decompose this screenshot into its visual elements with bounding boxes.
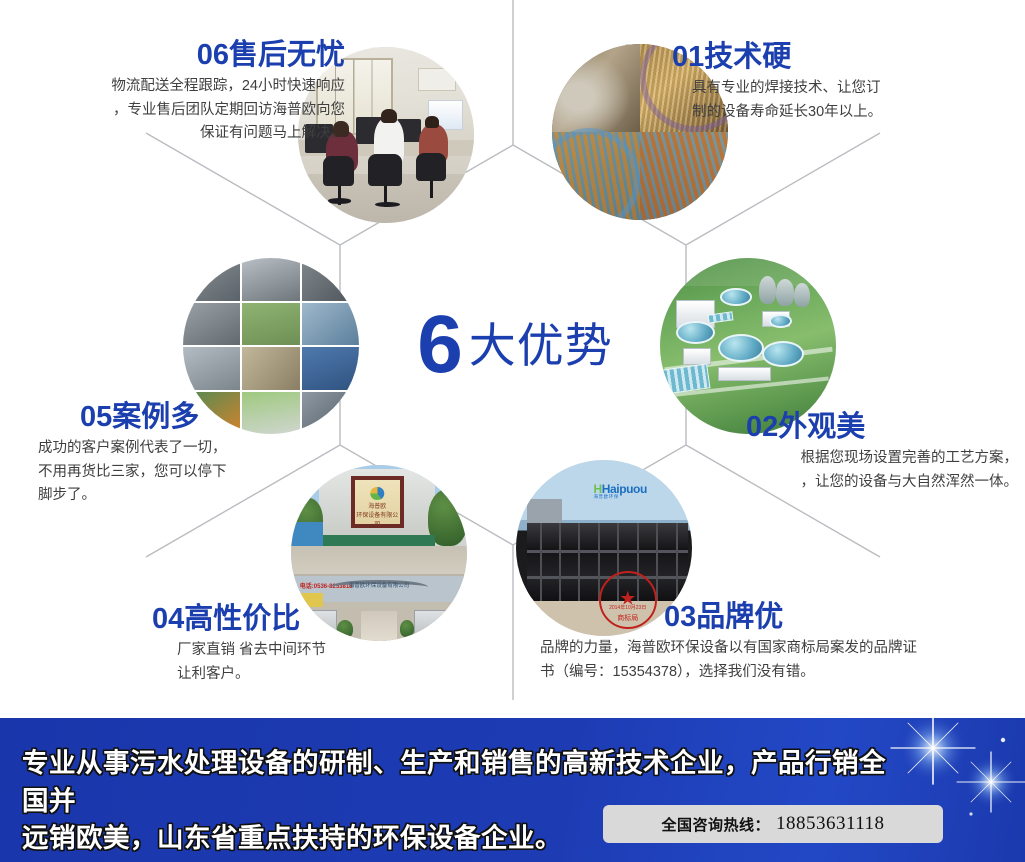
gate-sign-text: 海普欧环保设备有限公司 [355, 503, 400, 530]
feature-06-body: 物流配送全程跟踪，24小时快速响应 ，专业售后团队定期回访海普欧向您 保证有问题… [10, 75, 345, 145]
feature-02-body: 根据您现场设置完善的工艺方案， ，让您的设备与大自然浑然一体。 [718, 447, 1018, 494]
feature-04-heading: 04高性价比 [152, 604, 482, 634]
feature-06-heading: 06售后无忧 [10, 40, 345, 70]
feature-04-body: 厂家直销 省去中间环节 让利客户。 [152, 639, 482, 686]
hotline-label: 全国咨询热线： [661, 814, 770, 835]
feature-01-body: 具有专业的焊接技术、让您订 制的设备寿命延长30年以上。 [672, 77, 1002, 124]
center-label-text: 大优势 [469, 322, 613, 369]
haipuou-watermark: HHaipuou 海普欧环保 [593, 483, 646, 500]
feature-02-heading: 02外观美 [718, 412, 1018, 442]
feature-03-heading: 03品牌优 [540, 602, 1000, 632]
feature-06: 06售后无忧 物流配送全程跟踪，24小时快速响应 ，专业售后团队定期回访海普欧向… [10, 40, 345, 146]
feature-05: 05案例多 成功的客户案例代表了一切， 不用再货比三家，您可以停下 脚步了。 [38, 402, 338, 508]
feature-05-heading: 05案例多 [38, 402, 338, 432]
feature-01-heading: 01技术硬 [672, 42, 1002, 72]
center-number: 6 [417, 310, 460, 380]
hotline-number: 18853631118 [776, 813, 885, 835]
aerial-treatment-plant-photo [660, 258, 836, 434]
feature-02: 02外观美 根据您现场设置完善的工艺方案， ，让您的设备与大自然浑然一体。 [718, 412, 1018, 494]
gate-arch-text: 海普欧环保设备有限公司 [333, 581, 425, 589]
feature-03: 03品牌优 品牌的力量，海普欧环保设备以有国家商标局案发的品牌证 书（编号：15… [540, 602, 1000, 684]
feature-05-body: 成功的客户案例代表了一切， 不用再货比三家，您可以停下 脚步了。 [38, 437, 338, 507]
center-label: 6 大优势 [395, 295, 635, 395]
feature-03-body: 品牌的力量，海普欧环保设备以有国家商标局案发的品牌证 书（编号：15354378… [540, 637, 1000, 684]
feature-01: 01技术硬 具有专业的焊接技术、让您订 制的设备寿命延长30年以上。 [672, 42, 1002, 124]
hotline-pill[interactable]: 全国咨询热线： 18853631118 [603, 805, 943, 843]
feature-04: 04高性价比 厂家直销 省去中间环节 让利客户。 [152, 604, 482, 686]
infographic-stage: 6 大优势 [0, 0, 1025, 718]
